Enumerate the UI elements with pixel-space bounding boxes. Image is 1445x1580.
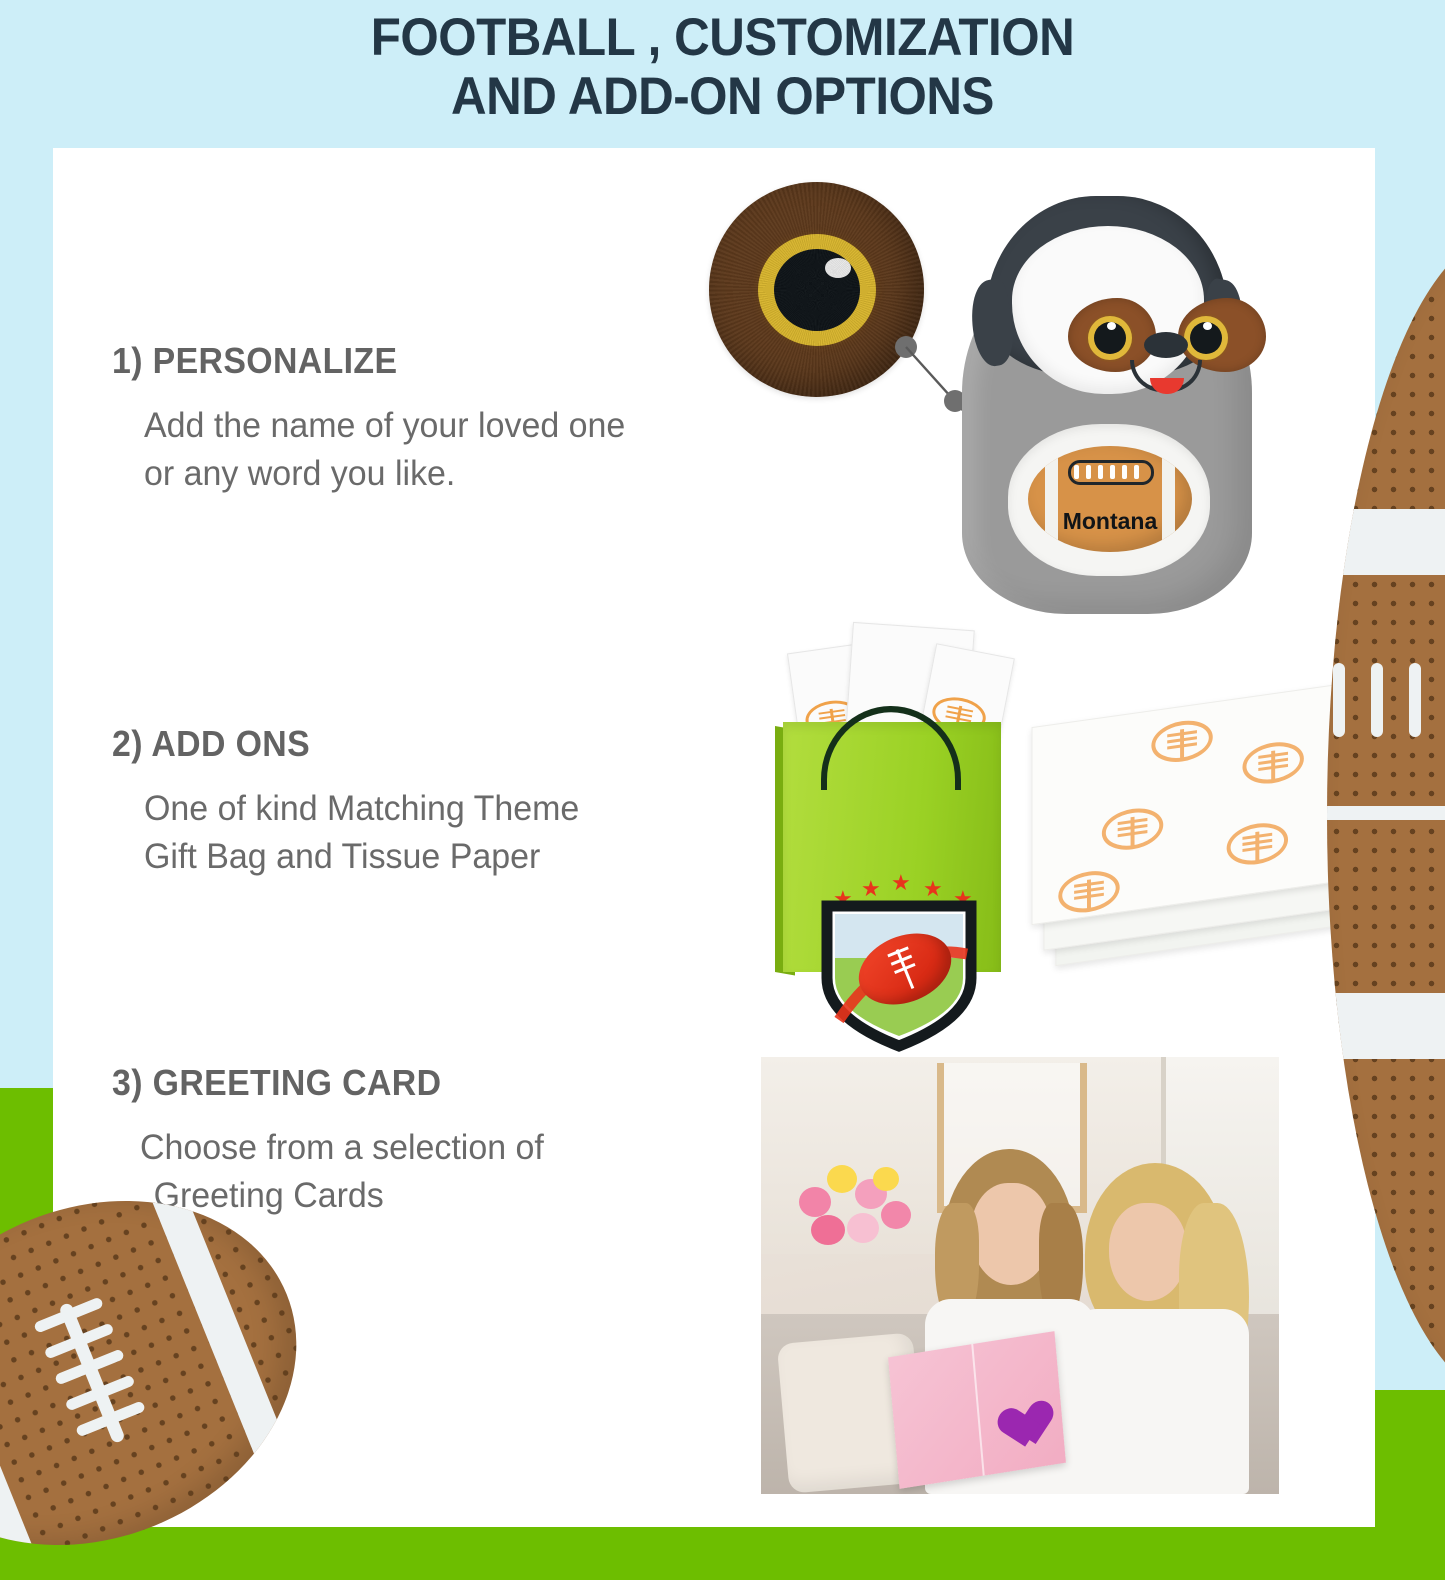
pink-greeting-card	[888, 1331, 1066, 1489]
greeting-card-photo-icon	[761, 1057, 1279, 1494]
football-stripe	[1327, 993, 1445, 1059]
football-print	[1227, 819, 1288, 868]
step-1-body-line-1: Add the name of your loved one	[144, 402, 625, 450]
plush-glint-right	[1203, 322, 1212, 330]
eye-detail-icon	[709, 182, 924, 397]
football-stripe-left	[1045, 446, 1058, 552]
step-2-body-line-2: Gift Bag and Tissue Paper	[144, 833, 579, 881]
step-2-heading: 2) ADD ONS	[112, 723, 564, 765]
step-2-add-ons: 2) ADD ONS One of kind Matching Theme Gi…	[112, 723, 593, 882]
sloth-plush-icon: Montana	[952, 186, 1262, 616]
football-print	[1242, 738, 1303, 787]
tissue-paper-icon	[1024, 702, 1364, 960]
step-2-body-line-1: One of kind Matching Theme	[144, 785, 579, 833]
plush-nose	[1144, 332, 1188, 358]
gift-bag-icon: ★ ★ ★ ★ ★	[775, 622, 1030, 987]
plush-face	[1012, 226, 1204, 394]
football-print	[1102, 805, 1163, 854]
step-1-body-line-2: or any word you like.	[144, 450, 625, 498]
football-print	[1058, 867, 1119, 916]
gift-bag-stars: ★ ★ ★ ★ ★	[829, 874, 979, 902]
football-lace-spine	[1327, 806, 1445, 820]
step-2-body: One of kind Matching Theme Gift Bag and …	[144, 785, 579, 882]
step-3-heading: 3) GREETING CARD	[112, 1062, 530, 1104]
plush-eye-ring-right	[1184, 316, 1228, 360]
football-stripe-right	[1162, 446, 1175, 552]
football-laces	[1327, 663, 1445, 963]
page-title-line-1: FOOTBALL , CUSTOMIZATION	[51, 8, 1395, 67]
plush-glint-left	[1107, 322, 1116, 330]
photo-flower-bouquet	[789, 1157, 929, 1267]
green-accent-right	[1375, 1390, 1445, 1580]
page-title-line-2: AND ADD-ON OPTIONS	[51, 67, 1395, 126]
step-1-personalize: 1) PERSONALIZE Add the name of your love…	[112, 340, 640, 499]
football-icon-right-edge	[1327, 233, 1445, 1398]
football-stripe	[1327, 509, 1445, 575]
plush-eye-ring-left	[1088, 316, 1132, 360]
photo-person-mother	[1067, 1163, 1257, 1494]
heart-icon	[986, 1385, 1041, 1440]
step-1-heading: 1) PERSONALIZE	[112, 340, 608, 382]
step-1-body: Add the name of your loved one or any wo…	[144, 402, 625, 499]
green-accent-bottom	[0, 1527, 1445, 1580]
infographic-canvas: FOOTBALL , CUSTOMIZATION AND ADD-ON OPTI…	[0, 0, 1445, 1580]
football-print	[1151, 717, 1212, 766]
eye-embroidery-texture	[709, 182, 924, 397]
page-title: FOOTBALL , CUSTOMIZATION AND ADD-ON OPTI…	[51, 8, 1395, 127]
card-fold	[971, 1344, 984, 1476]
personalized-name-text: Montana	[1028, 508, 1192, 535]
embroidered-football-icon: Montana	[1028, 446, 1192, 552]
plush-belly-patch: Montana	[1008, 424, 1210, 576]
football-laces	[1074, 465, 1148, 479]
